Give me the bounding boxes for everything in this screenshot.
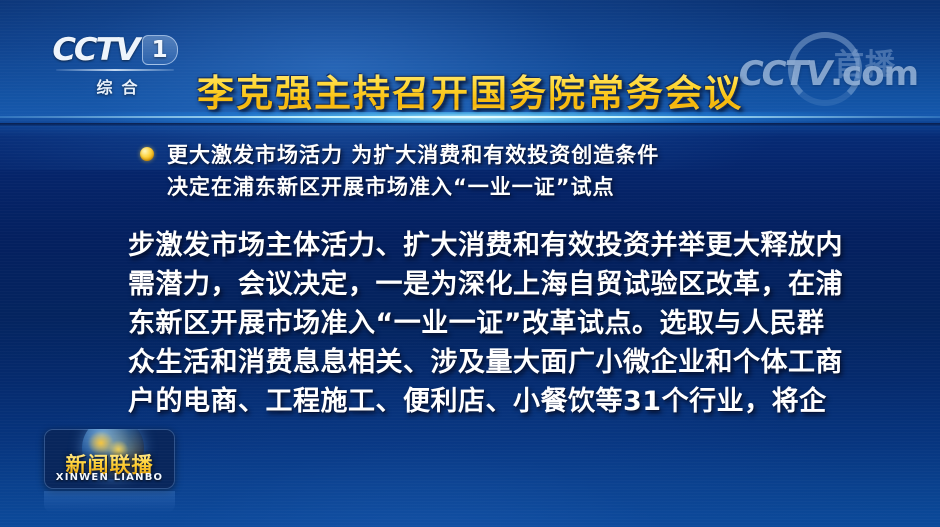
subtitle-line-1: 更大激发市场活力 为扩大消费和有效投资创造条件: [140, 138, 820, 170]
channel-number: 1: [152, 39, 168, 62]
body-line: 户的电商、工程施工、便利店、小餐饮等31个行业，将企: [128, 382, 833, 421]
program-logo-xinwen-lianbo: 新闻联播 XINWEN LIANBO: [44, 429, 175, 489]
program-logo-reflection: [44, 491, 175, 513]
divider-shadow-line: [0, 123, 940, 126]
bullet-dot-icon: [140, 147, 154, 161]
divider-core-line: [0, 116, 940, 118]
program-name-en: XINWEN LIANBO: [44, 472, 175, 483]
subtitle-line-2: 决定在浦东新区开展市场准入“一业一证”试点: [140, 170, 820, 202]
body-line: 步激发市场主体活力、扩大消费和有效投资并举更大释放内: [128, 226, 833, 265]
body-line: 需潜力，会议决定，一是为深化上海自贸试验区改革，在浦: [128, 265, 833, 304]
page-title: 李克强主持召开国务院常务会议: [0, 63, 940, 117]
cctv-logo-row: CCTV 1: [54, 33, 180, 67]
body-line: 众生活和消费息息相关、涉及量大面广小微企业和个体工商: [128, 343, 833, 382]
subtitle-line-2-text: 决定在浦东新区开展市场准入“一业一证”试点: [167, 171, 615, 201]
body-text-block: 步激发市场主体活力、扩大消费和有效投资并举更大释放内 需潜力，会议决定，一是为深…: [128, 226, 833, 421]
news-broadcast-screen: CCTV 1 综合 首播 CCTV.com 李克强主持召开国务院常务会议 更大激…: [0, 0, 940, 527]
subtitle-block: 更大激发市场活力 为扩大消费和有效投资创造条件 决定在浦东新区开展市场准入“一业…: [140, 138, 820, 202]
subtitle-line-1-text: 更大激发市场活力 为扩大消费和有效投资创造条件: [167, 139, 659, 169]
body-line: 东新区开展市场准入“一业一证”改革试点。选取与人民群: [128, 304, 833, 343]
glow-divider: [0, 112, 940, 126]
channel-number-badge: 1: [142, 35, 178, 65]
